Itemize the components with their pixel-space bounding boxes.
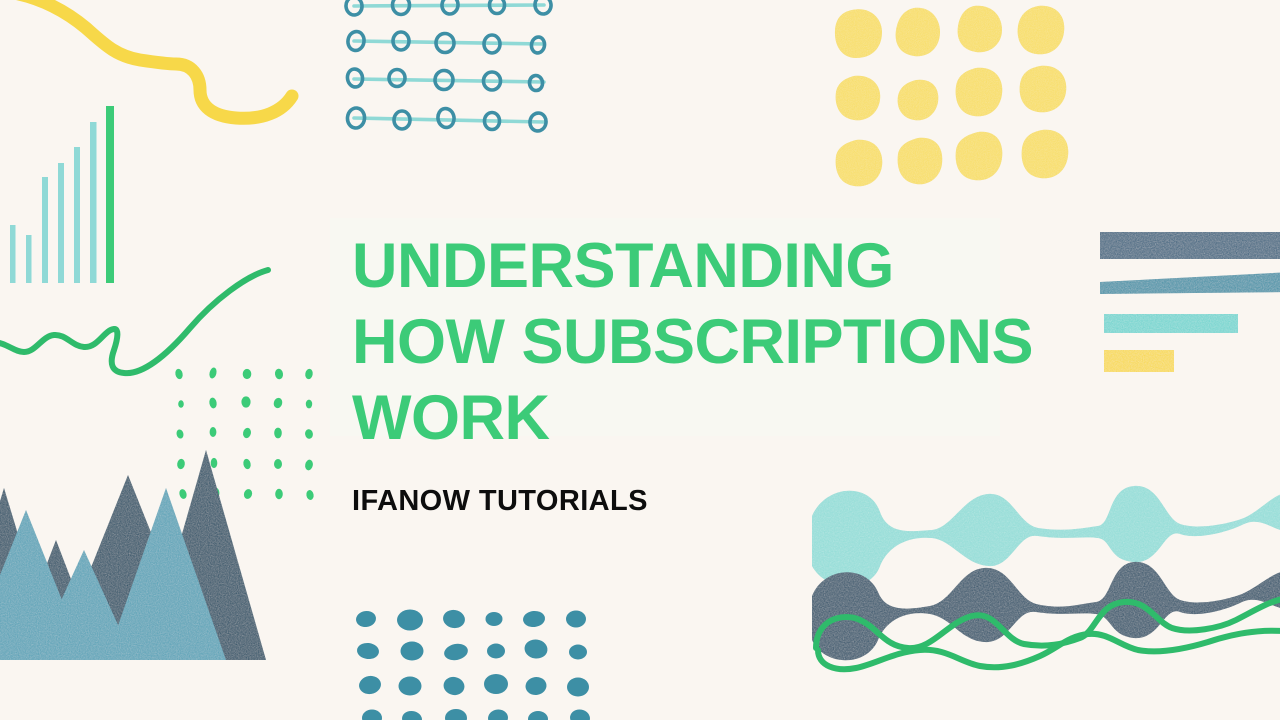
yellow-blob-grid-decoration [832,4,1072,194]
chain-links-decoration [340,0,560,142]
page-title: UNDERSTANDING HOW SUBSCRIPTIONS WORK [352,228,1092,456]
green-growth-line-decoration [0,258,290,380]
teal-dot-grid-decoration [352,605,602,720]
bar-chart-decoration [4,98,134,283]
title-block: UNDERSTANDING HOW SUBSCRIPTIONS WORK IFA… [352,228,1092,518]
subtitle: IFANOW TUTORIALS [352,456,1092,518]
green-dot-grid-decoration [172,366,322,506]
stripe-bars-decoration [1100,232,1280,372]
mountain-range-decoration [0,440,264,665]
slide-canvas: UNDERSTANDING HOW SUBSCRIPTIONS WORK IFA… [0,0,1280,720]
yellow-squiggle-decoration [0,0,300,114]
